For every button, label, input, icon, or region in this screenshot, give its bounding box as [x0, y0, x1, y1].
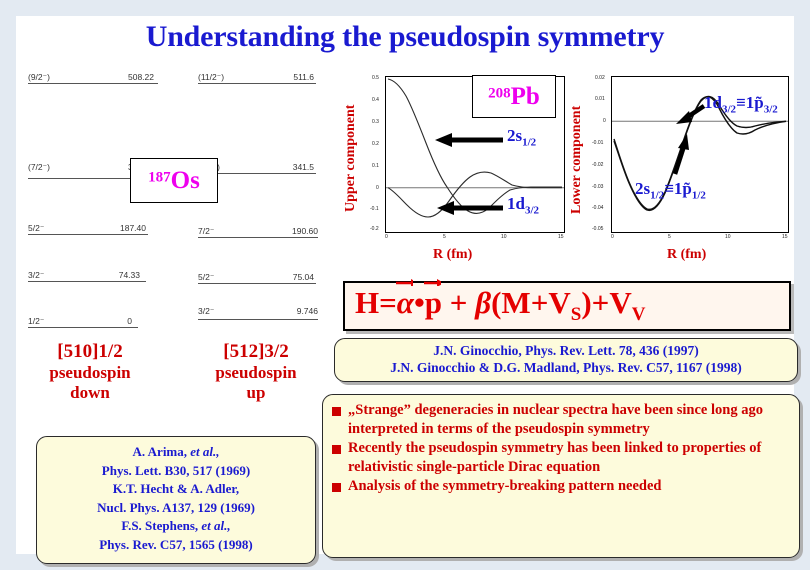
reference-line: J.N. Ginocchio & D.G. Madland, Phys. Rev…	[335, 359, 797, 376]
reference-authors: K.T. Hecht & A. Adler,	[37, 480, 315, 499]
orbital-label-2s12: 2s1/2	[507, 127, 536, 148]
dirac-hamiltonian-box: H=α•p + β(M+VS)+VV	[343, 281, 791, 331]
pseudospin-label-left-line2: down	[26, 383, 154, 403]
eq-dot: •	[414, 285, 425, 320]
level-line	[28, 83, 158, 84]
nilsson-label-left: [510]1/2	[26, 341, 154, 363]
x-tick: 15	[558, 234, 564, 240]
list-item: Analysis of the symmetry-breaking patter…	[330, 477, 791, 496]
nucleus-label-os: 187Os	[130, 158, 218, 203]
level-row: 3/2⁻ 74.33	[28, 270, 146, 284]
reference-line: A. Arima, et al.,	[37, 443, 315, 462]
level-spin: 7/2⁻	[198, 226, 214, 237]
eq-h: H=	[355, 285, 397, 320]
nucleus-symbol: Os	[171, 167, 200, 194]
y-tick: -0.1	[370, 206, 379, 212]
eq-sub-s: S	[571, 304, 582, 325]
y-tick: 0	[603, 118, 606, 124]
bullet-square-icon	[332, 407, 341, 416]
eq-mass-potential: (M+V	[491, 285, 571, 320]
level-spin: 5/2⁻	[28, 223, 44, 234]
y-tick: -0.02	[592, 162, 603, 168]
y-tick: -0.01	[592, 140, 603, 146]
eq-p-vector: p	[425, 285, 442, 321]
upper-component-ylabel: Upper component	[343, 78, 359, 238]
y-tick: 0.5	[372, 75, 379, 81]
nucleus-mass-number: 187	[148, 170, 171, 186]
eq-beta: β	[475, 285, 491, 320]
y-tick: 0.1	[372, 163, 379, 169]
level-spin: (11/2⁻)	[198, 72, 224, 83]
nucleus-symbol: Pb	[511, 83, 540, 110]
page-title: Understanding the pseudospin symmetry	[16, 20, 794, 54]
x-tick: 5	[443, 234, 446, 240]
references-historical-box: A. Arima, et al., Phys. Lett. B30, 517 (…	[36, 436, 316, 564]
level-scheme-diagram: (9/2⁻) 508.22 (7/2⁻) 333.26 5/2⁻ 187.40 …	[20, 68, 320, 338]
level-energy: 511.6	[293, 72, 314, 82]
list-item: „Strange” degeneracies in nuclear spectr…	[330, 401, 791, 438]
pseudospin-label-left-line1: pseudospin	[26, 363, 154, 383]
reference-journal: Phys. Lett. B30, 517 (1969)	[37, 462, 315, 481]
lower-component-xlabel: R (fm)	[667, 247, 706, 263]
bullet-text: „Strange” degeneracies in nuclear spectr…	[348, 401, 791, 438]
level-line	[198, 83, 316, 84]
level-energy: 0	[127, 316, 132, 326]
band-label-right: [512]3/2 pseudospin up	[192, 341, 320, 403]
level-line	[198, 283, 316, 284]
wavefunction-plots: Upper component 0.5 0.4 0.3 0.2 0.1 0 -0…	[341, 72, 793, 270]
upper-component-panel: Upper component 0.5 0.4 0.3 0.2 0.1 0 -0…	[341, 72, 569, 270]
level-spin: 5/2⁻	[198, 272, 214, 283]
level-spin: 3/2⁻	[198, 306, 214, 317]
x-tick: 0	[611, 234, 614, 240]
bullet-square-icon	[332, 445, 341, 454]
level-row: 5/2⁻ 75.04	[198, 272, 316, 286]
nilsson-label-right: [512]3/2	[192, 341, 320, 363]
upper-component-xlabel: R (fm)	[433, 247, 472, 263]
level-line	[28, 281, 146, 282]
nucleus-mass-number: 208	[488, 86, 511, 102]
arrow-to-1d32	[437, 200, 505, 216]
summary-bullets-box: „Strange” degeneracies in nuclear spectr…	[322, 394, 800, 558]
slide-canvas: Understanding the pseudospin symmetry (9…	[16, 16, 794, 554]
y-tick: -0.03	[592, 184, 603, 190]
vector-arrow-icon	[396, 278, 413, 286]
pseudospin-label-right-line2: up	[192, 383, 320, 403]
x-tick: 15	[782, 234, 788, 240]
x-tick: 10	[501, 234, 507, 240]
y-tick: 0.01	[595, 96, 605, 102]
y-tick: 0.02	[595, 75, 605, 81]
reference-etal: et al.,	[190, 444, 219, 459]
eq-vector-potential: )+V	[581, 285, 631, 320]
level-row: (9/2⁻) 508.22	[28, 72, 158, 86]
x-tick: 5	[668, 234, 671, 240]
reference-authors: A. Arima,	[132, 444, 187, 459]
level-spin: 1/2⁻	[28, 316, 44, 327]
level-energy: 187.40	[120, 223, 146, 233]
bullet-text: Recently the pseudospin symmetry has bee…	[348, 439, 791, 476]
vector-arrow-icon	[424, 278, 441, 286]
slide-edge-top	[0, 0, 810, 16]
orbital-label-1d32: 1d3/2	[507, 195, 539, 216]
references-historical-list: A. Arima, et al., Phys. Lett. B30, 517 (…	[37, 437, 315, 554]
y-tick: 0	[376, 185, 379, 191]
reference-line: F.S. Stephens, et al.,	[37, 517, 315, 536]
level-line	[198, 319, 318, 320]
level-energy: 508.22	[128, 72, 154, 82]
y-tick: 0.2	[372, 141, 379, 147]
level-spin: 3/2⁻	[28, 270, 44, 281]
list-item: Recently the pseudospin symmetry has bee…	[330, 439, 791, 476]
x-tick: 10	[725, 234, 731, 240]
reference-line: J.N. Ginocchio, Phys. Rev. Lett. 78, 436…	[335, 342, 797, 359]
pseudospin-label-right-line1: pseudospin	[192, 363, 320, 383]
lower-component-panel: Lower component 0.02 0.01 0 -0.01 -0.02 …	[569, 72, 793, 270]
x-tick: 0	[385, 234, 388, 240]
level-energy: 75.04	[293, 272, 314, 282]
level-row: 5/2⁻ 187.40	[28, 223, 148, 237]
level-row: 7/2⁻ 190.60	[198, 226, 318, 240]
reference-journal: Nucl. Phys. A137, 129 (1969)	[37, 499, 315, 518]
orbital-label-1d32-equiv: 1d3/2≡1p̃3/2	[704, 94, 778, 115]
level-spin: (9/2⁻)	[28, 72, 50, 83]
level-row: (11/2⁻) 511.6	[198, 72, 316, 86]
orbital-label-2s12-equiv: 2s1/2≡1p̃1/2	[635, 180, 706, 201]
arrow-to-1d32-lower	[674, 102, 708, 126]
nucleus-text: 187Os	[148, 168, 200, 193]
dirac-hamiltonian-equation: H=α•p + β(M+VS)+VV	[355, 285, 645, 326]
reference-etal: et al.,	[201, 518, 230, 533]
reference-authors: F.S. Stephens,	[121, 518, 198, 533]
eq-sub-v: V	[632, 304, 646, 325]
band-label-left: [510]1/2 pseudospin down	[26, 341, 154, 403]
summary-bullets-list: „Strange” degeneracies in nuclear spectr…	[323, 395, 799, 496]
level-spin: (7/2⁻)	[28, 162, 50, 173]
references-modern-box: J.N. Ginocchio, Phys. Rev. Lett. 78, 436…	[334, 338, 798, 382]
eq-plus: +	[442, 285, 475, 320]
level-line	[198, 237, 318, 238]
slide-edge-left	[0, 0, 16, 570]
y-tick: 0.4	[372, 97, 379, 103]
references-modern-list: J.N. Ginocchio, Phys. Rev. Lett. 78, 436…	[335, 339, 797, 376]
reference-journal: Phys. Rev. C57, 1565 (1998)	[37, 536, 315, 555]
y-tick: -0.2	[370, 226, 379, 232]
nucleus-label-pb: 208Pb	[472, 75, 556, 118]
y-tick: 0.3	[372, 119, 379, 125]
level-energy: 341.5	[293, 162, 314, 172]
y-tick: -0.04	[592, 205, 603, 211]
level-row: 1/2⁻ 0	[28, 316, 138, 330]
level-line	[28, 327, 138, 328]
bullet-text: Analysis of the symmetry-breaking patter…	[348, 477, 661, 496]
nucleus-text: 208Pb	[488, 84, 540, 109]
level-energy: 9.746	[297, 306, 318, 316]
level-energy: 190.60	[292, 226, 318, 236]
y-tick: -0.05	[592, 226, 603, 232]
level-row: 3/2⁻ 9.746	[198, 306, 318, 320]
arrow-to-2s12	[435, 132, 505, 148]
level-line	[28, 234, 148, 235]
bullet-square-icon	[332, 483, 341, 492]
lower-component-ylabel: Lower component	[569, 76, 585, 244]
eq-alpha-vector: α	[397, 285, 414, 321]
level-energy: 74.33	[119, 270, 140, 280]
arrow-to-2s12-lower	[667, 132, 693, 176]
